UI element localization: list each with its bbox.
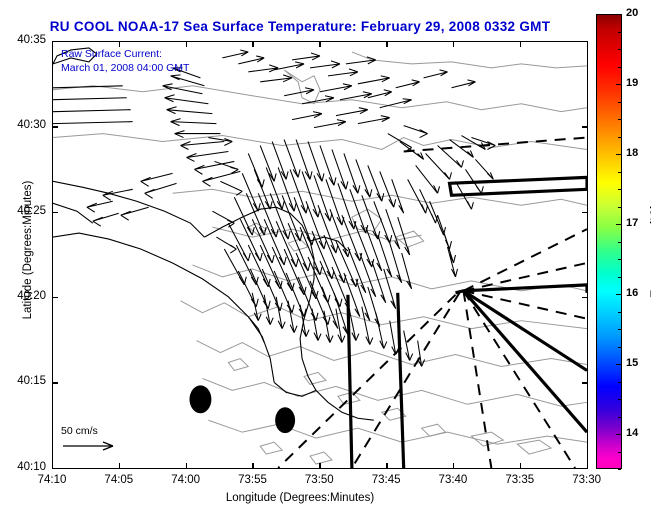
colorbar-minor-tick	[618, 32, 621, 33]
x-tick	[119, 463, 120, 469]
figure-title: RU COOL NOAA-17 Sea Surface Temperature:…	[0, 19, 600, 34]
colorbar-tick-label: 15	[626, 357, 650, 369]
y-tick	[582, 126, 588, 127]
x-tick	[186, 463, 187, 469]
annotation-line-2: March 01, 2008 04:00 GMT	[61, 61, 189, 75]
y-tick	[52, 212, 58, 213]
y-tick-label: 40:10	[0, 461, 46, 473]
y-tick	[582, 41, 588, 42]
station-marker-2	[275, 407, 295, 433]
x-tick-label: 74:00	[151, 474, 221, 486]
x-tick	[252, 463, 253, 469]
colorbar-minor-tick	[618, 172, 621, 173]
y-tick	[52, 382, 58, 383]
colorbar-tick-label: 16	[626, 287, 650, 299]
colorbar-minor-tick	[618, 382, 621, 383]
x-tick	[186, 41, 187, 47]
y-axis-title: Latitude (Degrees:Minutes)	[22, 160, 34, 340]
figure-canvas: RU COOL NOAA-17 Sea Surface Temperature:…	[0, 0, 651, 518]
colorbar-minor-tick	[618, 417, 621, 418]
x-tick	[386, 41, 387, 47]
colorbar-minor-tick	[618, 259, 621, 260]
colorbar-tick-label: 20	[626, 7, 650, 19]
x-tick	[319, 463, 320, 469]
y-tick	[52, 297, 58, 298]
colorbar-minor-tick	[618, 399, 621, 400]
x-tick-label: 74:10	[17, 474, 87, 486]
colorbar-minor-tick	[618, 329, 621, 330]
colorbar-minor-tick	[618, 242, 621, 243]
x-tick	[520, 41, 521, 47]
map-overlay	[53, 42, 587, 468]
x-tick-label: 73:35	[485, 474, 555, 486]
colorbar-tick	[616, 14, 621, 15]
x-tick	[453, 41, 454, 47]
y-tick	[52, 126, 58, 127]
x-tick	[119, 41, 120, 47]
x-tick-label: 73:50	[284, 474, 354, 486]
colorbar-tick	[616, 224, 621, 225]
colorbar-tick	[616, 364, 621, 365]
colorbar-minor-tick	[618, 49, 621, 50]
map-axes: Raw Surface Current: March 01, 2008 04:0…	[52, 41, 588, 469]
x-tick	[252, 41, 253, 47]
colorbar-tick	[616, 434, 621, 435]
x-tick	[520, 463, 521, 469]
colorbar-tick	[616, 84, 621, 85]
x-tick-label: 74:05	[84, 474, 154, 486]
right-arrow-icon	[61, 439, 123, 453]
y-tick	[52, 468, 58, 469]
x-tick-label: 73:45	[351, 474, 421, 486]
y-tick	[582, 212, 588, 213]
x-tick-label: 73:55	[217, 474, 287, 486]
colorbar-minor-tick	[618, 189, 621, 190]
colorbar-minor-tick	[618, 277, 621, 278]
colorbar-minor-tick	[618, 102, 621, 103]
colorbar-minor-tick	[618, 312, 621, 313]
x-tick	[319, 41, 320, 47]
station-marker-1	[189, 385, 211, 413]
scale-legend-label: 50 cm/s	[61, 425, 171, 437]
colorbar-tick	[616, 294, 621, 295]
colorbar-tick	[616, 154, 621, 155]
x-axis-title: Longitude (Degrees:Minutes)	[0, 492, 600, 504]
x-tick-label: 73:30	[552, 474, 622, 486]
colorbar-minor-tick	[618, 452, 621, 453]
station-markers	[189, 385, 295, 433]
current-annotation: Raw Surface Current: March 01, 2008 04:0…	[61, 47, 189, 75]
y-tick-label: 40:15	[0, 375, 46, 387]
colorbar-tick-label: 19	[626, 77, 650, 89]
colorbar-minor-tick	[618, 119, 621, 120]
colorbar-minor-tick	[618, 207, 621, 208]
x-tick	[453, 463, 454, 469]
y-tick	[582, 468, 588, 469]
colorbar-tick-label: 17	[626, 217, 650, 229]
annotation-line-1: Raw Surface Current:	[61, 47, 189, 61]
scale-legend: 50 cm/s	[61, 425, 171, 458]
colorbar-minor-tick	[618, 137, 621, 138]
colorbar-tick-label: 18	[626, 147, 650, 159]
x-tick-label: 73:40	[418, 474, 488, 486]
colorbar-minor-tick	[618, 347, 621, 348]
y-tick-label: 40:35	[0, 34, 46, 46]
colorbar-minor-tick	[618, 67, 621, 68]
colorbar-minor-tick	[618, 469, 621, 470]
x-tick	[386, 463, 387, 469]
y-tick	[582, 382, 588, 383]
y-tick	[582, 297, 588, 298]
y-tick-label: 40:30	[0, 119, 46, 131]
y-tick	[52, 41, 58, 42]
colorbar-tick-label: 14	[626, 427, 650, 439]
coastline	[53, 48, 374, 420]
